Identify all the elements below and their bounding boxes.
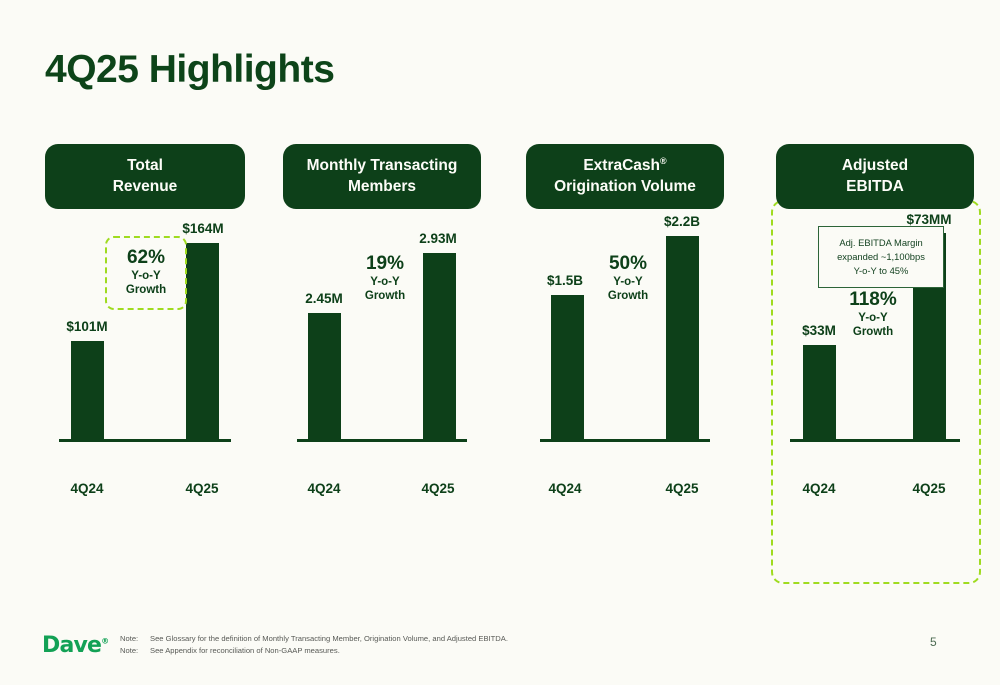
axis-label-4q25: 4Q25 xyxy=(637,481,727,496)
annotation-line-3: Y-o-Y to 45% xyxy=(825,264,937,278)
footnote-text: See Appendix for reconciliation of Non-G… xyxy=(150,646,340,655)
bar-value-label-4q25: $164M xyxy=(158,221,248,236)
bar-chart-total-revenue: $101M $164M 62% Y-o-Y Growth 4Q24 4Q25 xyxy=(45,209,245,584)
metric-title-line-2: Origination Volume xyxy=(554,177,696,198)
chart-baseline xyxy=(59,439,231,442)
growth-word-label: Growth xyxy=(340,289,430,303)
bar-4q25 xyxy=(186,243,219,439)
growth-callout: 19% Y-o-Y Growth xyxy=(340,253,430,304)
metric-header-monthly-transacting-members: Monthly Transacting Members xyxy=(283,144,481,209)
metric-header-extracash-origination-volume: ExtraCash® Origination Volume xyxy=(526,144,724,209)
metric-title-line-2: Revenue xyxy=(113,177,178,198)
metric-title-line-1: Adjusted xyxy=(842,156,908,177)
metric-title-line-1: Total xyxy=(113,156,178,177)
metric-column-extracash-origination-volume: ExtraCash® Origination Volume $1.5B $2.2… xyxy=(526,144,724,584)
metric-title-line-1: ExtraCash® xyxy=(554,155,696,177)
metric-title-line-2: Members xyxy=(307,177,458,198)
slide-canvas: 4Q25 Highlights Total Revenue $101M $164… xyxy=(0,0,1000,685)
metric-column-monthly-transacting-members: Monthly Transacting Members 2.45M 2.93M … xyxy=(283,144,481,584)
page-title: 4Q25 Highlights xyxy=(45,49,334,92)
metric-title-text: ExtraCash xyxy=(583,157,660,174)
growth-yoy-label: Y-o-Y xyxy=(583,275,673,289)
metric-title-line-1: Monthly Transacting xyxy=(307,156,458,177)
axis-label-4q25: 4Q25 xyxy=(157,481,247,496)
bar-4q24 xyxy=(71,341,104,439)
annotation-line-2: expanded ~1,100bps xyxy=(825,250,937,264)
metric-title-line-2: EBITDA xyxy=(842,177,908,198)
footnote-key: Note: xyxy=(120,646,150,655)
growth-word-label: Growth xyxy=(113,283,179,297)
dave-logo-text: Dave xyxy=(42,633,101,658)
growth-percent: 62% xyxy=(113,247,179,269)
dave-logo: Dave® xyxy=(42,633,108,658)
bar-chart-extracash-origination-volume: $1.5B $2.2B 50% Y-o-Y Growth 4Q24 4Q25 xyxy=(526,209,724,584)
metric-column-total-revenue: Total Revenue $101M $164M 62% Y-o-Y Grow… xyxy=(45,144,245,584)
annotation-line-1: Adj. EBITDA Margin xyxy=(825,236,937,250)
footnote-key: Note: xyxy=(120,634,150,643)
bar-chart-monthly-transacting-members: 2.45M 2.93M 19% Y-o-Y Growth 4Q24 4Q25 xyxy=(283,209,481,584)
chart-baseline xyxy=(297,439,467,442)
page-number: 5 xyxy=(930,635,937,649)
metric-header-adjusted-ebitda: Adjusted EBITDA xyxy=(776,144,974,209)
chart-baseline xyxy=(540,439,710,442)
axis-label-4q25: 4Q25 xyxy=(393,481,483,496)
bar-value-label-4q25: 2.93M xyxy=(393,231,483,246)
axis-label-4q24: 4Q24 xyxy=(520,481,610,496)
metric-header-total-revenue: Total Revenue xyxy=(45,144,245,209)
registered-trademark-icon: ® xyxy=(660,156,667,166)
registered-trademark-icon: ® xyxy=(101,637,108,646)
footnote-row-1: Note:See Glossary for the definition of … xyxy=(120,634,508,643)
growth-callout: 62% Y-o-Y Growth xyxy=(105,236,187,310)
growth-callout: 50% Y-o-Y Growth xyxy=(583,253,673,304)
bar-value-label-4q25: $2.2B xyxy=(637,214,727,229)
axis-label-4q24: 4Q24 xyxy=(42,481,132,496)
bar-4q24 xyxy=(551,295,584,439)
growth-percent: 19% xyxy=(340,253,430,275)
ebitda-margin-annotation: Adj. EBITDA Margin expanded ~1,100bps Y-… xyxy=(818,226,944,288)
growth-word-label: Growth xyxy=(583,289,673,303)
growth-yoy-label: Y-o-Y xyxy=(113,269,179,283)
growth-percent: 50% xyxy=(583,253,673,275)
axis-label-4q24: 4Q24 xyxy=(279,481,369,496)
bar-4q24 xyxy=(308,313,341,439)
footnote-text: See Glossary for the definition of Month… xyxy=(150,634,508,643)
footnote-row-2: Note:See Appendix for reconciliation of … xyxy=(120,646,340,655)
bar-value-label-4q24: $101M xyxy=(42,319,132,334)
growth-yoy-label: Y-o-Y xyxy=(340,275,430,289)
